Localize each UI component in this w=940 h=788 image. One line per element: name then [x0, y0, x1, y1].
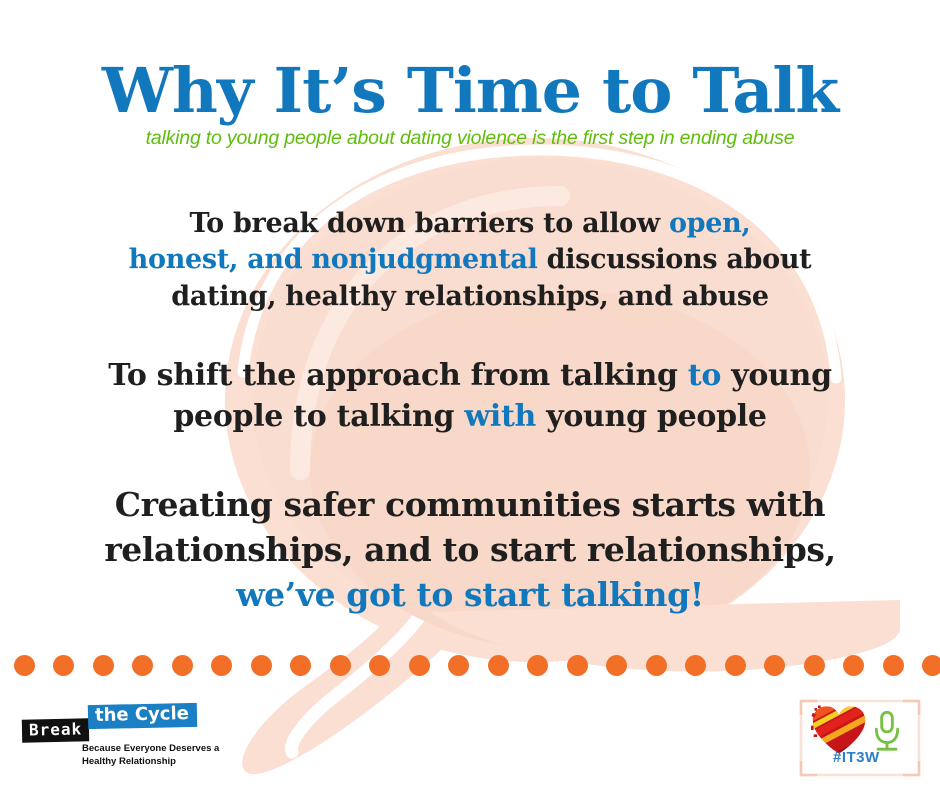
divider-dot [488, 655, 509, 676]
message-line: people to talking with young people [60, 396, 880, 437]
divider-dot [93, 655, 114, 676]
microphone-icon [871, 709, 903, 753]
message-block-1: To break down barriers to allow open,hon… [60, 206, 880, 315]
divider-dot [448, 655, 469, 676]
logo-word-the-cycle: the Cycle [88, 703, 197, 729]
message-block-2: To shift the approach from talking to yo… [60, 355, 880, 437]
divider-dot [606, 655, 627, 676]
divider-dot [330, 655, 351, 676]
message-text: To shift the approach from talking [108, 358, 688, 393]
poster-canvas: Why It’s Time to Talk talking to young p… [0, 0, 940, 788]
message-line: we’ve got to start talking! [60, 573, 880, 618]
it3w-hashtag: #IT3W [833, 749, 880, 766]
highlighted-phrase: with [464, 399, 536, 434]
highlighted-phrase: to [688, 358, 721, 393]
message-line: dating, healthy relationships, and abuse [60, 279, 880, 315]
message-text: discussions about [538, 244, 812, 275]
divider-dot [725, 655, 746, 676]
message-line: Creating safer communities starts with [60, 483, 880, 528]
divider-dot [409, 655, 430, 676]
logo-tagline-line1: Because Everyone Deserves a [82, 743, 232, 756]
message-line: relationships, and to start relationship… [60, 528, 880, 573]
divider-dot [211, 655, 232, 676]
highlighted-phrase: open, [669, 208, 751, 239]
message-text: young [721, 358, 832, 393]
divider-dot [53, 655, 74, 676]
divider-dot [922, 655, 940, 676]
divider-dot [764, 655, 785, 676]
divider-dot [843, 655, 864, 676]
divider-dot [646, 655, 667, 676]
divider-dot [251, 655, 272, 676]
divider-dot [14, 655, 35, 676]
divider-dot [172, 655, 193, 676]
divider-dot [804, 655, 825, 676]
message-block-3: Creating safer communities starts withre… [60, 483, 880, 618]
message-text: Creating safer communities starts with [115, 485, 826, 524]
divider-dot [883, 655, 904, 676]
message-line: honest, and nonjudgmental discussions ab… [60, 242, 880, 278]
page-subtitle: talking to young people about dating vio… [0, 127, 940, 150]
message-line: To shift the approach from talking to yo… [60, 355, 880, 396]
message-text: relationships, and to start relationship… [104, 530, 835, 569]
message-text: dating, healthy relationships, and abuse [171, 281, 768, 312]
divider-dot [685, 655, 706, 676]
logo-tagline-line2: Healthy Relationship [82, 756, 232, 769]
message-line: To break down barriers to allow open, [60, 206, 880, 242]
it3w-badge: #IT3W [799, 699, 921, 777]
highlighted-phrase: honest, and nonjudgmental [129, 244, 538, 275]
highlighted-phrase: we’ve got to start talking! [236, 575, 704, 614]
logo-word-break: Break [22, 718, 90, 742]
message-text: To break down barriers to allow [189, 208, 668, 239]
divider-dot [290, 655, 311, 676]
divider-dot [132, 655, 153, 676]
divider-dot [369, 655, 390, 676]
break-the-cycle-logo: Break the Cycle Because Everyone Deserve… [22, 703, 222, 773]
divider-dot [527, 655, 548, 676]
dot-divider [0, 655, 940, 679]
page-title: Why It’s Time to Talk [0, 60, 940, 122]
message-text: young people [536, 399, 767, 434]
logo-tagline: Because Everyone Deserves a Healthy Rela… [82, 743, 232, 769]
divider-dot [567, 655, 588, 676]
message-text: people to talking [173, 399, 464, 434]
